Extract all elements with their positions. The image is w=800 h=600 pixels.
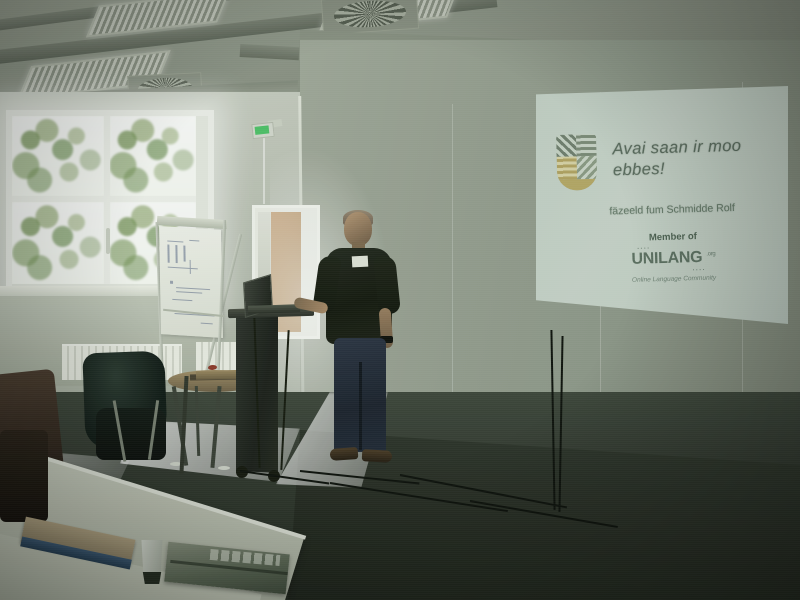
projection-screen: Avai saan ir moo ebbes! fäzeeld fum Schm… — [536, 86, 788, 324]
sleeve-right — [373, 255, 401, 315]
coat-of-arms-icon — [556, 134, 598, 191]
leg-separation — [359, 362, 362, 450]
shoe-right — [362, 449, 393, 463]
window-mullion — [12, 196, 196, 202]
foliage-view — [12, 202, 104, 284]
foliage-view — [12, 116, 104, 196]
window-pane — [110, 116, 196, 196]
slide-subtitle: fäzeeld fum Schmidde Rolf — [566, 201, 778, 219]
cup-contents — [142, 572, 162, 584]
logo-suffix: .org — [706, 251, 715, 257]
unilang-logo: ···· UNILANG .org ···· — [567, 247, 779, 271]
slide-member-label: Member of — [567, 229, 779, 246]
logo-dots-top: ···· — [637, 245, 651, 252]
slide-tagline: Online Language Community — [568, 273, 780, 286]
presenter — [318, 212, 402, 472]
foliage-view — [110, 116, 196, 196]
wall-conduit — [263, 134, 265, 204]
window-pane — [12, 202, 104, 284]
shoe-left — [330, 447, 359, 461]
logo-dots-bottom: ···· — [692, 267, 706, 274]
air-diffuser-icon — [321, 0, 419, 35]
exit-sign-glow — [255, 125, 270, 134]
projected-slide: Avai saan ir moo ebbes! fäzeeld fum Schm… — [533, 83, 792, 328]
photo-scene: Avai saan ir moo ebbes! fäzeeld fum Schm… — [0, 0, 800, 600]
wall-panel-seam — [452, 104, 453, 404]
window-pane — [12, 116, 104, 196]
flipchart-handwriting — [159, 226, 223, 338]
window-handle[interactable] — [106, 228, 110, 254]
head — [344, 212, 372, 246]
foreground-object — [0, 430, 48, 522]
emergency-exit-sign — [251, 122, 274, 139]
flipchart-sheet — [159, 226, 223, 338]
name-badge — [352, 256, 369, 268]
slide-headline: Avai saan ir moo ebbes! — [612, 135, 779, 182]
table-foot — [218, 466, 230, 470]
